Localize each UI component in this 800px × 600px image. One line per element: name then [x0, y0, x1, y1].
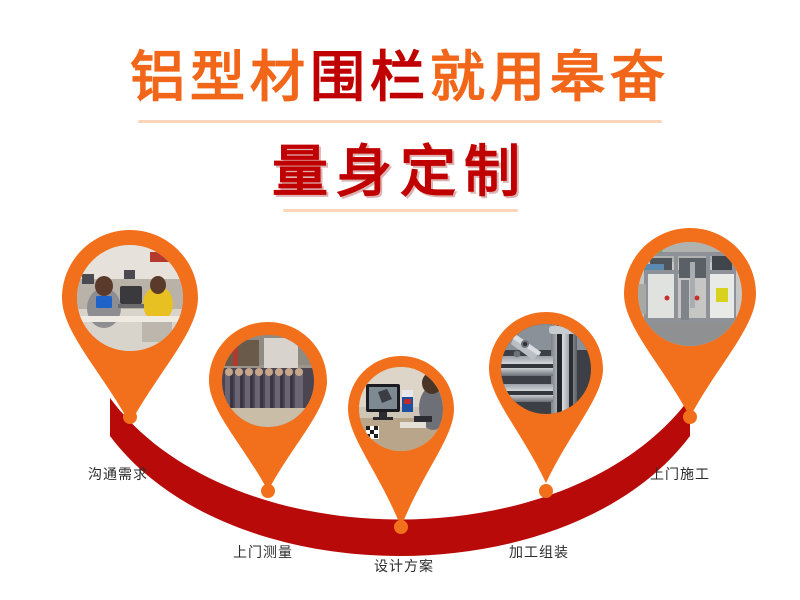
arc-dot-3	[394, 520, 408, 534]
arc-dot-4	[539, 484, 553, 498]
arc-dot-2	[261, 484, 275, 498]
arc-dot-1	[123, 410, 137, 424]
arc-dots	[0, 0, 800, 600]
arc-dot-5	[683, 410, 697, 424]
poster-canvas: 铝型材围栏就用皋奋 量身定制	[0, 0, 800, 600]
